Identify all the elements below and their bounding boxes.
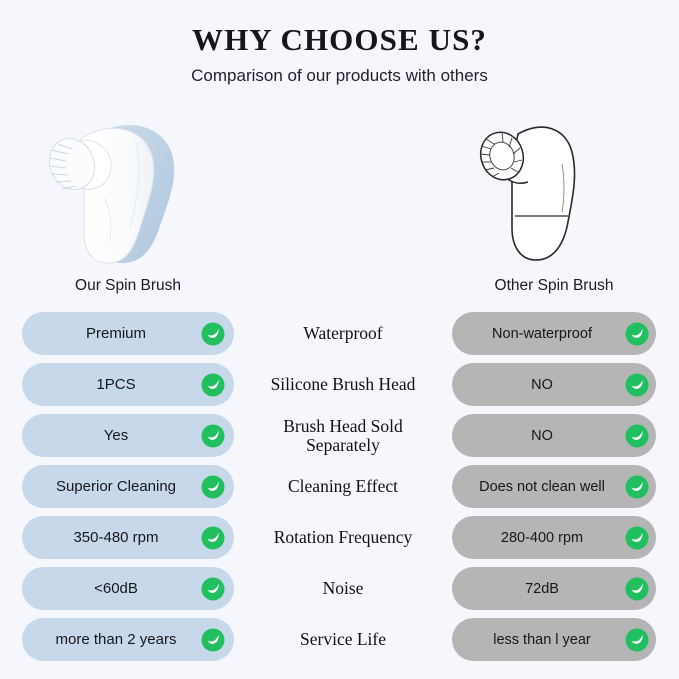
other-value-pill[interactable]: Does not clean well (452, 465, 656, 508)
other-brush-caption: Other Spin Brush (452, 277, 656, 295)
our-value-text: Premium (36, 325, 196, 342)
feature-label: Cleaning Effect (239, 465, 447, 508)
green-check-icon (624, 525, 650, 551)
other-value-text: Does not clean well (464, 479, 620, 495)
feature-label: Silicone Brush Head (239, 363, 447, 406)
green-check-icon (200, 474, 226, 500)
our-value-pill[interactable]: 1PCS (22, 363, 234, 406)
green-check-icon (624, 627, 650, 653)
our-value-pill[interactable]: 350-480 rpm (22, 516, 234, 559)
our-brush-caption: Our Spin Brush (22, 277, 234, 295)
green-check-icon (200, 525, 226, 551)
table-row: Superior CleaningCleaning EffectDoes not… (0, 465, 679, 516)
page-subtitle: Comparison of our products with others (0, 66, 679, 86)
our-value-pill[interactable]: <60dB (22, 567, 234, 610)
other-value-text: Non-waterproof (464, 326, 620, 342)
other-value-pill[interactable]: NO (452, 363, 656, 406)
green-check-icon (200, 372, 226, 398)
feature-label: Waterproof (239, 312, 447, 355)
other-value-text: NO (464, 428, 620, 444)
other-value-pill[interactable]: 72dB (452, 567, 656, 610)
other-value-pill[interactable]: NO (452, 414, 656, 457)
our-value-pill[interactable]: Superior Cleaning (22, 465, 234, 508)
green-check-icon (624, 576, 650, 602)
other-value-pill[interactable]: less than l year (452, 618, 656, 661)
feature-label-text: Silicone Brush Head (271, 375, 416, 394)
product-image-area (0, 100, 679, 270)
other-value-pill[interactable]: 280-400 rpm (452, 516, 656, 559)
green-check-icon (624, 474, 650, 500)
table-row: more than 2 yearsService Lifeless than l… (0, 618, 679, 669)
green-check-icon (624, 423, 650, 449)
table-row: 350-480 rpmRotation Frequency280-400 rpm (0, 516, 679, 567)
feature-label: Brush Head SoldSeparately (239, 414, 447, 457)
our-value-text: <60dB (36, 580, 196, 597)
our-value-pill[interactable]: Premium (22, 312, 234, 355)
our-value-text: more than 2 years (36, 631, 196, 648)
our-value-pill[interactable]: Yes (22, 414, 234, 457)
feature-label: Rotation Frequency (239, 516, 447, 559)
table-row: 1PCSSilicone Brush HeadNO (0, 363, 679, 414)
table-row: <60dBNoise72dB (0, 567, 679, 618)
comparison-table: PremiumWaterproofNon-waterproof1PCSSilic… (0, 312, 679, 669)
feature-label-text: Brush Head SoldSeparately (283, 417, 403, 455)
other-value-text: 280-400 rpm (464, 530, 620, 546)
table-row: YesBrush Head SoldSeparatelyNO (0, 414, 679, 465)
green-check-icon (200, 423, 226, 449)
feature-label-text: Noise (323, 579, 364, 598)
page-title: WHY CHOOSE US? (0, 22, 679, 58)
other-value-text: less than l year (464, 632, 620, 648)
feature-label-text: Cleaning Effect (288, 477, 398, 496)
table-row: PremiumWaterproofNon-waterproof (0, 312, 679, 363)
our-value-text: Yes (36, 427, 196, 444)
our-value-text: 350-480 rpm (36, 529, 196, 546)
feature-label-text: Waterproof (303, 324, 382, 343)
our-spin-brush-image (38, 102, 208, 270)
green-check-icon (624, 372, 650, 398)
other-spin-brush-image (468, 104, 608, 270)
feature-label: Noise (239, 567, 447, 610)
other-value-text: 72dB (464, 581, 620, 597)
feature-label: Service Life (239, 618, 447, 661)
green-check-icon (624, 321, 650, 347)
green-check-icon (200, 627, 226, 653)
other-value-text: NO (464, 377, 620, 393)
green-check-icon (200, 576, 226, 602)
feature-label-text: Service Life (300, 630, 386, 649)
our-value-text: 1PCS (36, 376, 196, 393)
comparison-infographic: WHY CHOOSE US? Comparison of our product… (0, 0, 679, 679)
our-value-text: Superior Cleaning (36, 478, 196, 495)
our-value-pill[interactable]: more than 2 years (22, 618, 234, 661)
other-value-pill[interactable]: Non-waterproof (452, 312, 656, 355)
feature-label-text: Rotation Frequency (274, 528, 413, 547)
green-check-icon (200, 321, 226, 347)
